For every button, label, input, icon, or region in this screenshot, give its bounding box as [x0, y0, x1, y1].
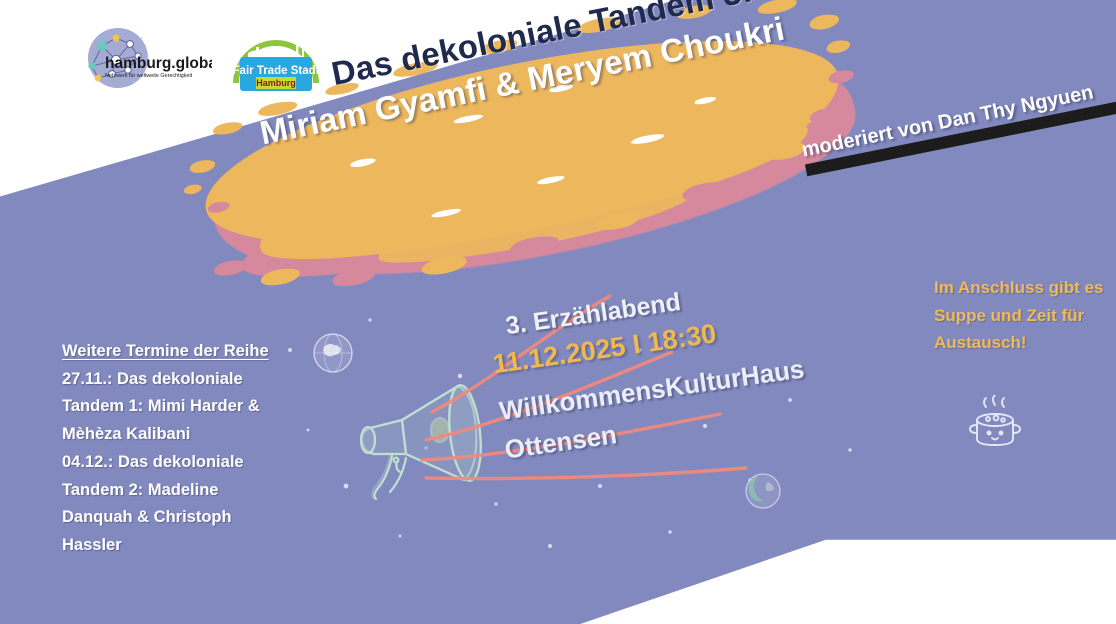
fair-trade-stadt-logo: Fair Trade Stadt Hamburg: [230, 29, 322, 95]
fair-trade-line-2: Hamburg: [256, 78, 296, 88]
hamburg-global-tagline: Netzwerk für weltweite Gerechtigkeit: [105, 73, 193, 79]
further-dates-entry: 27.11.: Das dekoloniale Tandem 1: Mimi H…: [62, 366, 277, 449]
hamburg-global-logo: hamburg.global Netzwerk für weltweite Ge…: [72, 26, 212, 94]
fair-trade-line-1: Fair Trade Stadt: [233, 65, 320, 77]
after-event-note: Im Anschluss gibt es Suppe und Zeit für …: [934, 274, 1109, 357]
event-poster: Das dekoloniale Tandem 3: Miriam Gyamfi …: [0, 0, 1116, 624]
further-dates-entry: 04.12.: Das dekoloniale Tandem 2: Madeli…: [62, 449, 277, 560]
further-dates-block: Weitere Termine der Reihe 27.11.: Das de…: [62, 338, 277, 560]
sponsor-footer: gefördert von: ENGAGEMENT GLOBAL Service…: [0, 554, 1116, 624]
hamburg-global-wordmark: hamburg.global: [105, 55, 212, 72]
further-dates-heading: Weitere Termine der Reihe: [62, 338, 277, 366]
